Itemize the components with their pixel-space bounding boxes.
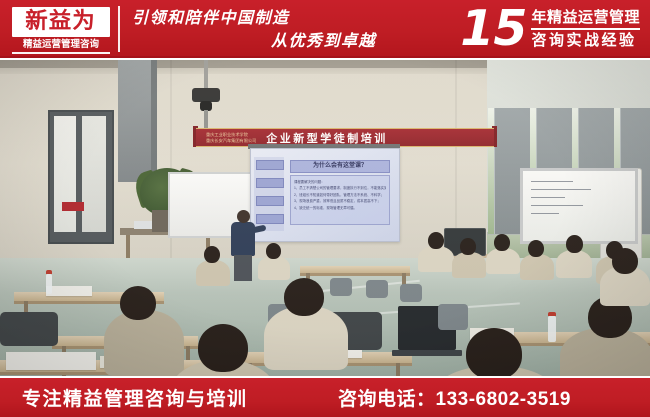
bottle-cap-right <box>548 312 556 316</box>
side-whiteboard <box>520 168 638 244</box>
projector-body <box>192 88 220 102</box>
attendee-head-b7 <box>266 243 281 259</box>
attendee-shoulders-b5 <box>556 250 592 278</box>
attendee-head-b1 <box>428 232 444 249</box>
projector-mount-rod <box>204 60 208 90</box>
footer-phone[interactable]: 咨询电话：133-6802-3519 <box>338 384 571 411</box>
wall-banner-small-line-2: 重庆长安汽车集团有限公司 <box>206 138 256 143</box>
slide-nav-item-0 <box>256 160 284 170</box>
desk-center-leg-r <box>396 363 400 376</box>
photo-door-glass-left <box>54 116 76 232</box>
bottle-right <box>548 316 556 342</box>
bottle-mid-left <box>46 274 52 294</box>
bottle-cap-mid-left <box>46 270 52 274</box>
years-number: 15 <box>460 4 526 54</box>
attendee-shoulders-b2 <box>452 252 486 278</box>
slide-body-line-3: 3、现场浪费严重，效率低且品质不稳定，成本居高不下； <box>294 198 386 204</box>
footer-bar: 专注精益管理咨询与培训 咨询电话：133-6802-3519 <box>0 378 650 417</box>
instructor-head <box>237 210 250 223</box>
photo-door-sign <box>62 202 84 211</box>
photo-wall-seam-right <box>455 60 457 250</box>
attendee-shoulders-f1 <box>104 310 184 376</box>
attendee-shoulders-b1 <box>418 246 454 272</box>
slogan-line-2: 从优秀到卓越 <box>130 29 390 52</box>
chair-far-1 <box>330 278 352 296</box>
header-bar: 新益为 精益运营管理咨询 引领和陪伴中国制造 从优秀到卓越 15 年精益运营管理… <box>0 0 650 58</box>
desk-far-1 <box>300 266 410 276</box>
attendee-shoulders-b4 <box>520 254 554 280</box>
attendee-head-b4 <box>528 240 544 257</box>
attendee-head-b5 <box>566 235 583 253</box>
chair-mid-right <box>438 304 468 330</box>
logo-mark: 新益为 <box>12 7 110 37</box>
years-text-group: 年精益运营管理 咨询实战经验 <box>531 8 640 50</box>
years-text-bottom: 咨询实战经验 <box>531 31 640 50</box>
paper-mid-left <box>46 286 92 296</box>
logo-tagline: 精益运营管理咨询 <box>12 39 110 51</box>
header-divider <box>118 6 120 52</box>
photo-wall-duct <box>118 60 154 182</box>
chair-far-3 <box>400 284 422 302</box>
promo-banner-page: 新益为 精益运营管理咨询 引领和陪伴中国制造 从优秀到卓越 15 年精益运营管理… <box>0 0 650 417</box>
attendee-head-b8 <box>204 246 220 263</box>
laptop-base <box>392 350 462 356</box>
logo-name: 新益为 <box>26 11 96 33</box>
instructor-legs <box>234 255 252 281</box>
slide-title: 为什么会有这堂课？ <box>290 160 390 173</box>
attendee-shoulders-b3 <box>486 248 520 274</box>
chair-far-2 <box>366 280 388 298</box>
slide-nav-item-3 <box>256 214 284 224</box>
attendee-head-b2 <box>460 238 476 255</box>
slogan-line-1: 引领和陪伴中国制造 <box>130 6 390 29</box>
photo-door-glass-right <box>82 116 106 232</box>
attendee-head-f1 <box>120 286 156 320</box>
attendee-head-b3 <box>494 234 510 251</box>
chair-foreground-left <box>0 312 58 346</box>
attendee-head-f6 <box>612 248 638 274</box>
brand-logo[interactable]: 新益为 精益运营管理咨询 <box>12 7 110 52</box>
header-slogan: 引领和陪伴中国制造 从优秀到卓越 <box>130 6 390 54</box>
photo-wall-duct-edge <box>151 60 157 182</box>
experience-badge: 15 年精益运营管理 咨询实战经验 <box>460 3 640 55</box>
years-divider-rule <box>531 28 640 30</box>
footer-tagline: 专注精益管理咨询与培训 <box>22 384 248 411</box>
attendee-head-f4 <box>466 328 522 376</box>
slide-body-line-1: 1、员工不清楚公司的管理要求，制度执行不到位，不能落实到位； <box>294 185 386 191</box>
attendee-shoulders-b7 <box>258 256 290 280</box>
instructor-body <box>231 222 255 256</box>
attendee-head-f3 <box>284 278 324 316</box>
slide-nav-item-1 <box>256 178 284 188</box>
slide-body-line-4: 4、缺乏统一的标准，现场管理无章可循。 <box>294 205 386 211</box>
paper-front-left <box>6 352 96 370</box>
attendee-head-f2 <box>198 324 248 372</box>
attendee-shoulders-b8 <box>196 260 230 286</box>
years-text-top: 年精益运营管理 <box>531 8 640 27</box>
logo-underline <box>12 52 110 54</box>
slide-nav-item-2 <box>256 196 284 206</box>
classroom-photo: 重庆工业职业技术学院 重庆长安汽车集团有限公司 企业新型学徒制培训 为什么会有这… <box>0 60 650 376</box>
slide-body: 课程要解决的问题： 1、员工不清楚公司的管理要求，制度执行不到位，不能落实到位；… <box>290 175 390 225</box>
